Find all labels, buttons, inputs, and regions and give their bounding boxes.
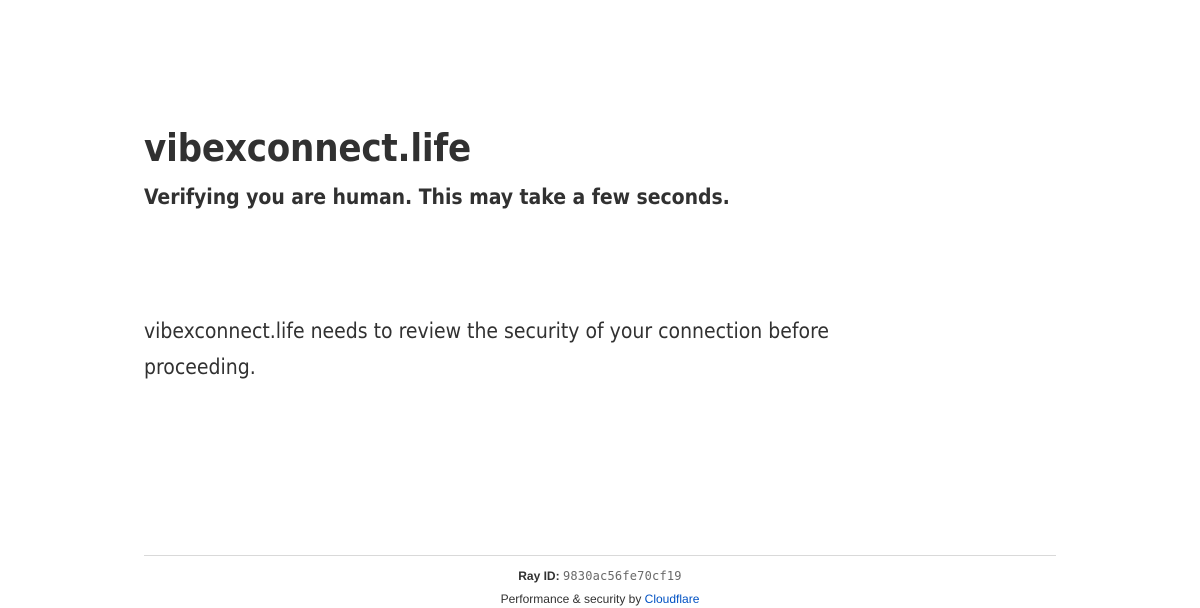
challenge-status-heading: Verifying you are human. This may take a… bbox=[144, 183, 1056, 212]
challenge-page: vibexconnect.life Verifying you are huma… bbox=[0, 0, 1200, 600]
turnstile-widget-slot[interactable] bbox=[144, 221, 444, 286]
ray-id-value: 9830ac56fe70cf19 bbox=[563, 569, 682, 583]
challenge-widget-container[interactable] bbox=[144, 221, 1056, 313]
ray-id-label: Ray ID: bbox=[518, 569, 559, 583]
page-title: vibexconnect.life bbox=[144, 124, 1056, 173]
main-content: vibexconnect.life Verifying you are huma… bbox=[144, 0, 1056, 385]
ray-id-row: Ray ID: 9830ac56fe70cf19 bbox=[144, 568, 1056, 585]
challenge-description: vibexconnect.life needs to review the se… bbox=[144, 313, 944, 385]
main-wrapper: vibexconnect.life Verifying you are huma… bbox=[144, 0, 1056, 385]
cloudflare-link[interactable]: Cloudflare bbox=[645, 592, 700, 606]
attribution-prefix: Performance & security by bbox=[501, 592, 645, 606]
footer-attribution: Performance & security by Cloudflare bbox=[144, 591, 1056, 608]
